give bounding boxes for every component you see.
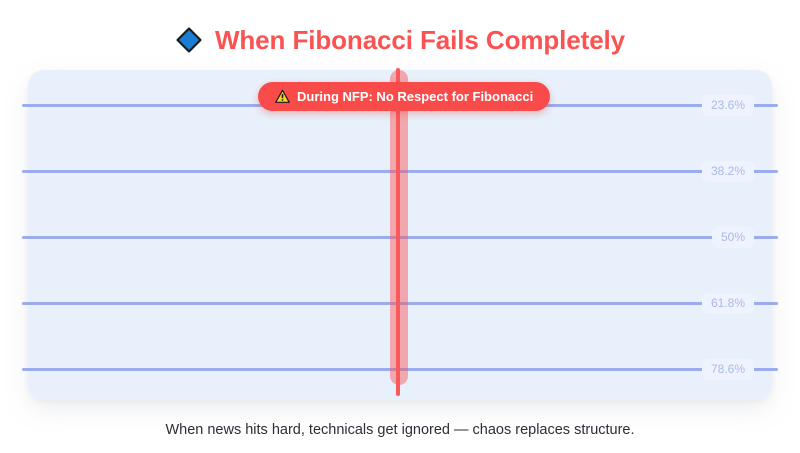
fib-level-label: 78.6% <box>702 359 754 380</box>
fib-level-label: 23.6% <box>702 95 754 116</box>
event-badge-label: During NFP: No Respect for Fibonacci <box>297 90 533 103</box>
page-title: When Fibonacci Fails Completely <box>0 18 800 62</box>
warning-triangle-icon <box>275 89 290 104</box>
fib-level-label: 61.8% <box>702 293 754 314</box>
page-title-text: When Fibonacci Fails Completely <box>215 27 625 53</box>
chart-caption: When news hits hard, technicals get igno… <box>0 422 800 439</box>
news-event-marker-line <box>396 68 400 396</box>
event-badge[interactable]: During NFP: No Respect for Fibonacci <box>258 82 550 111</box>
blue-diamond-icon <box>175 26 203 54</box>
fib-level-label: 50% <box>712 227 754 248</box>
fib-level-label: 38.2% <box>702 161 754 182</box>
